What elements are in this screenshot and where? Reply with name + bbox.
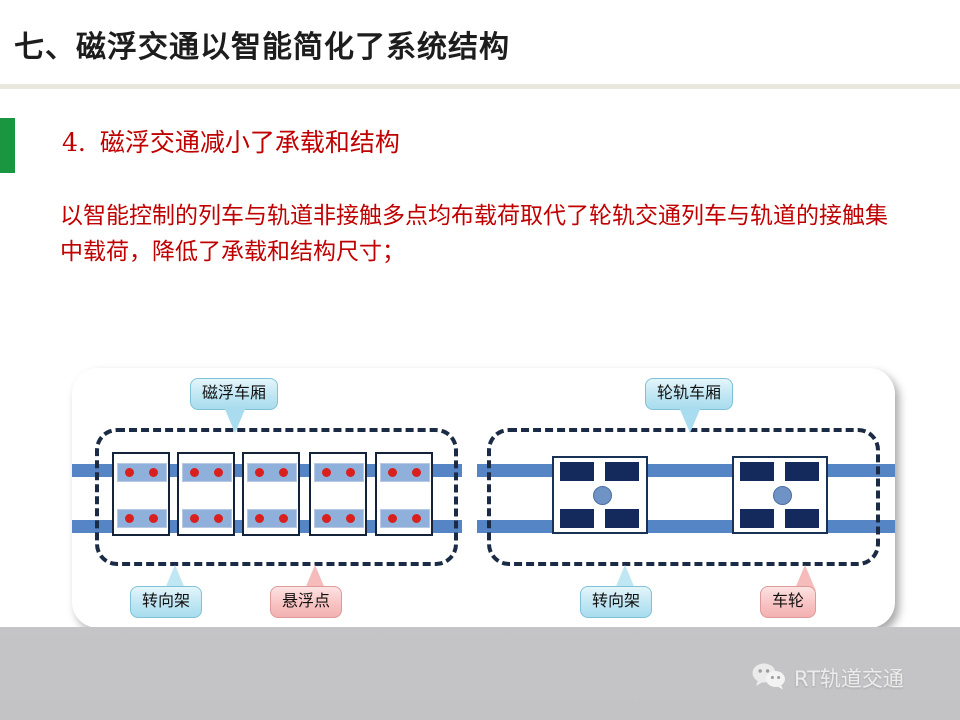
levitation-pad-bottom: [182, 509, 232, 528]
levitation-point: [255, 468, 264, 477]
levitation-point: [322, 468, 331, 477]
body-paragraph: 以智能控制的列车与轨道非接触多点均布载荷取代了轮轨交通列车与轨道的接触集中载荷，…: [60, 198, 900, 270]
diagram-card: 磁浮车厢 轮轨车厢 转向架 悬浮点 转向架 车轮: [72, 368, 895, 627]
wheel: [605, 462, 639, 481]
title-divider: [0, 84, 960, 89]
levitation-point: [190, 468, 199, 477]
levitation-point: [388, 514, 397, 523]
callout-wheelrail-car: 轮轨车厢: [645, 378, 733, 410]
levitation-point: [279, 514, 288, 523]
levitation-point: [214, 468, 223, 477]
levitation-pad-bottom: [380, 509, 430, 528]
slide-canvas: 七、磁浮交通以智能简化了系统结构 4.磁浮交通减小了承载和结构 以智能控制的列车…: [0, 0, 960, 627]
callout-maglev-bogie: 转向架: [130, 586, 202, 618]
axle-center: [773, 486, 792, 505]
callout-maglev-car: 磁浮车厢: [190, 378, 278, 410]
axle-center: [593, 486, 612, 505]
wechat-icon: [752, 662, 786, 694]
wheel: [560, 509, 594, 528]
levitation-pad-top: [380, 463, 430, 482]
levitation-point: [125, 514, 134, 523]
subtitle-text: 磁浮交通减小了承载和结构: [100, 128, 400, 157]
callout-levitation-point-label: 悬浮点: [270, 586, 342, 618]
callout-maglev-bogie-label: 转向架: [130, 586, 202, 618]
callout-maglev-car-label: 磁浮车厢: [190, 378, 278, 410]
watermark: RT轨道交通: [752, 662, 904, 694]
wheel: [560, 462, 594, 481]
levitation-point: [346, 514, 355, 523]
section-subtitle: 4.磁浮交通减小了承载和结构: [62, 123, 400, 159]
wheel: [785, 462, 819, 481]
wheel: [740, 462, 774, 481]
comparison-diagram: 磁浮车厢 轮轨车厢 转向架 悬浮点 转向架 车轮: [72, 368, 895, 627]
maglev-bogie: [309, 452, 367, 536]
levitation-pad-top: [117, 463, 167, 482]
levitation-pad-bottom: [247, 509, 297, 528]
page-title: 七、磁浮交通以智能简化了系统结构: [14, 22, 510, 66]
levitation-point: [214, 514, 223, 523]
levitation-point: [322, 514, 331, 523]
wheelrail-bogie: [732, 456, 828, 534]
levitation-point: [412, 468, 421, 477]
maglev-bogie: [112, 452, 170, 536]
watermark-text: RT轨道交通: [794, 663, 904, 693]
levitation-point: [279, 468, 288, 477]
wheel: [605, 509, 639, 528]
levitation-pad-top: [314, 463, 364, 482]
callout-pointer: [679, 407, 701, 433]
wheelrail-bogie: [552, 456, 648, 534]
levitation-point: [388, 468, 397, 477]
levitation-pad-bottom: [117, 509, 167, 528]
levitation-point: [412, 514, 421, 523]
wheel: [785, 509, 819, 528]
levitation-point: [255, 514, 264, 523]
section-marker: [0, 118, 15, 173]
levitation-point: [346, 468, 355, 477]
levitation-pad-bottom: [314, 509, 364, 528]
maglev-bogie: [177, 452, 235, 536]
levitation-pad-top: [247, 463, 297, 482]
callout-wheelrail-bogie-label: 转向架: [580, 586, 652, 618]
subtitle-number: 4.: [62, 128, 86, 157]
maglev-bogie: [242, 452, 300, 536]
maglev-bogie: [375, 452, 433, 536]
callout-wheelrail-bogie: 转向架: [580, 586, 652, 618]
callout-pointer: [224, 407, 246, 433]
levitation-point: [149, 514, 158, 523]
wheel: [740, 509, 774, 528]
levitation-point: [149, 468, 158, 477]
callout-wheelrail-car-label: 轮轨车厢: [645, 378, 733, 410]
levitation-point: [190, 514, 199, 523]
callout-levitation-point: 悬浮点: [270, 586, 342, 618]
callout-wheel-label: 车轮: [760, 586, 816, 618]
levitation-point: [125, 468, 134, 477]
levitation-pad-top: [182, 463, 232, 482]
callout-wheel: 车轮: [760, 586, 816, 618]
